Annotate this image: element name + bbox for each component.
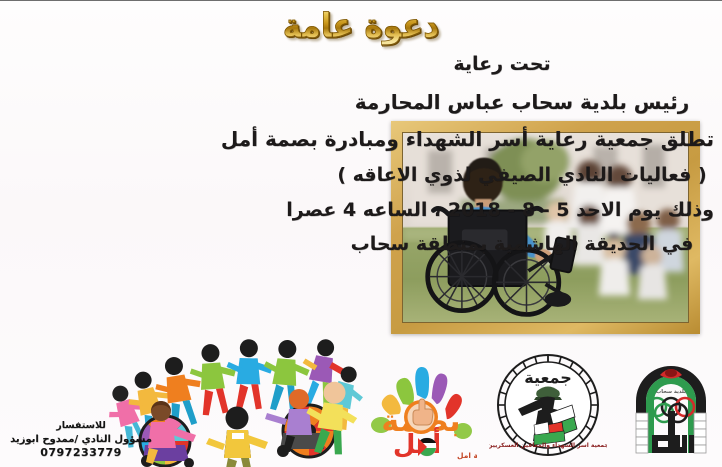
poster-title-wrap: دعوة عامة (0, 9, 722, 43)
sahab-municipality-icon: بلدية سحاب (628, 349, 714, 461)
contact-heading: للاستفسار (6, 420, 156, 433)
jamiya-word-top: جمعية (524, 368, 572, 387)
contact-person: مسؤول النادي /ممدوح ابوزيد (6, 433, 156, 447)
poster-body-text: تحت رعاية رئيس بلدية سحاب عباس المحارمة … (330, 53, 714, 256)
line-program: ( فعاليات النادي الصيفي لذوي الاعاقه ) (330, 164, 714, 186)
logo-basmat-amal: بصمة أمل بصمة امل (365, 355, 477, 461)
contact-block: للاستفسار مسؤول النادي /ممدوح ابوزيد 079… (6, 420, 156, 461)
contact-phone[interactable]: 0797233779 (6, 446, 156, 461)
logo-sahab-municipality: بلدية سحاب (628, 349, 714, 461)
basmat-caption: بصمة امل (457, 451, 477, 460)
line-launch: تطلق جمعية رعاية أسر الشهداء ومبادرة بصم… (330, 128, 714, 151)
logo-martyrs-association: جمعية جمعية اسر الشهداء والمعاق (489, 349, 607, 461)
line-place: في الحديقة الهاشمية بمنطقة سحاب (330, 233, 714, 255)
martyrs-association-icon: جمعية جمعية اسر الشهداء والمعاق (489, 349, 607, 461)
sahab-subtitle: بلدية سحاب (656, 389, 686, 395)
jamiya-subtitle: جمعية اسر الشهداء والمعاقين العسكريين (489, 442, 607, 449)
line-date: وذلك يوم الاحد 5 - 8 - 2018 ، الساعه 4 ع… (330, 199, 714, 221)
line-patronage: تحت رعاية (330, 53, 714, 75)
poster-canvas: دعوة عامة تحت رعاية رئيس بلدية سحاب عباس… (0, 0, 722, 467)
poster-title: دعوة عامة (283, 8, 439, 45)
line-mayor: رئيس بلدية سحاب عباس المحارمة (330, 91, 714, 114)
basmat-amal-icon: بصمة أمل بصمة امل (365, 355, 477, 461)
